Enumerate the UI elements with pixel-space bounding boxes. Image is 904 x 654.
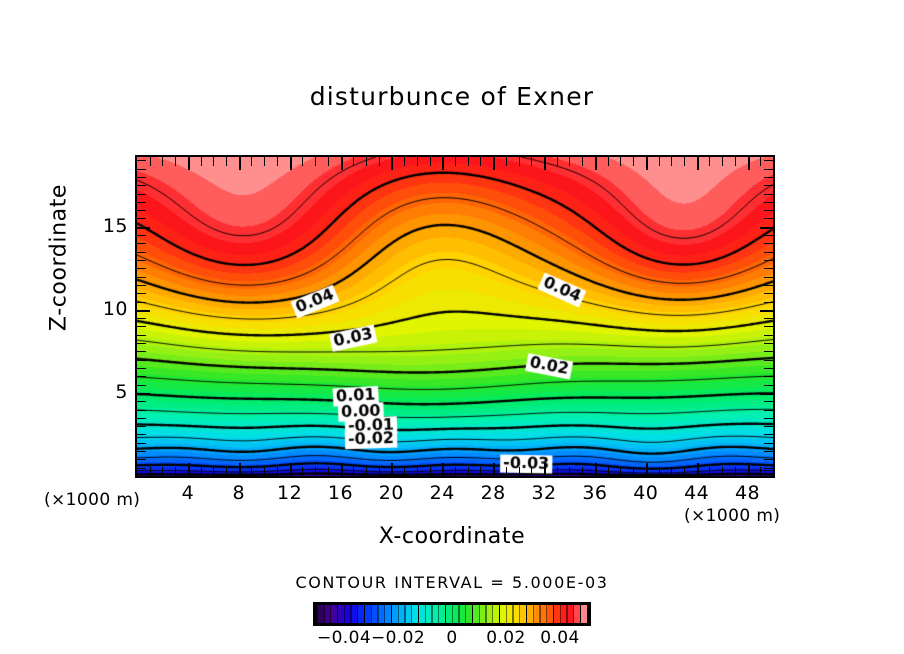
y-tick-right bbox=[760, 393, 773, 395]
x-tick-top bbox=[557, 157, 558, 166]
x-tick-bottom bbox=[582, 467, 583, 476]
y-tick-left bbox=[137, 434, 146, 435]
page-title: disturbunce of Exner bbox=[0, 82, 904, 111]
y-tick-left bbox=[137, 318, 146, 319]
x-tick-bottom bbox=[366, 467, 367, 476]
x-tick-bottom bbox=[557, 467, 558, 476]
x-tick-top bbox=[226, 157, 227, 166]
y-tick-right bbox=[764, 434, 773, 435]
x-tick-bottom bbox=[659, 467, 660, 476]
x-tick-top bbox=[748, 157, 750, 170]
y-tick-right bbox=[764, 385, 773, 386]
x-tick-bottom bbox=[417, 467, 418, 476]
y-tick-left bbox=[137, 194, 146, 195]
y-tick-left bbox=[137, 393, 150, 395]
y-tick-left bbox=[137, 459, 146, 460]
x-tick-top bbox=[582, 157, 583, 166]
x-tick-top bbox=[404, 157, 405, 166]
y-tick-right bbox=[764, 277, 773, 278]
y-tick-label: 10 bbox=[88, 298, 128, 320]
y-tick-right bbox=[764, 376, 773, 377]
y-tick-left bbox=[137, 177, 146, 178]
y-tick-left bbox=[137, 368, 146, 369]
x-tick-bottom bbox=[760, 467, 761, 476]
x-tick-top bbox=[646, 157, 648, 170]
x-tick-bottom bbox=[544, 463, 546, 476]
x-tick-top bbox=[430, 157, 431, 166]
x-tick-top bbox=[468, 157, 469, 166]
x-tick-bottom bbox=[671, 467, 672, 476]
y-tick-right bbox=[764, 451, 773, 452]
x-tick-bottom bbox=[595, 463, 597, 476]
y-tick-right bbox=[764, 202, 773, 203]
x-tick-bottom bbox=[251, 467, 252, 476]
y-tick-left bbox=[137, 268, 146, 269]
x-tick-bottom bbox=[391, 463, 393, 476]
x-tick-bottom bbox=[569, 467, 570, 476]
x-tick-bottom bbox=[201, 467, 202, 476]
y-tick-left bbox=[137, 202, 146, 203]
x-tick-top bbox=[506, 157, 507, 166]
colorbar-tick-label: 0.04 bbox=[525, 628, 595, 648]
x-tick-bottom bbox=[697, 463, 699, 476]
x-tick-top bbox=[201, 157, 202, 166]
x-tick-top bbox=[722, 157, 723, 166]
x-tick-top bbox=[417, 157, 418, 166]
colorbar bbox=[313, 602, 591, 626]
x-tick-top bbox=[277, 157, 278, 166]
y-tick-right bbox=[764, 194, 773, 195]
y-tick-left bbox=[137, 418, 146, 419]
y-tick-right bbox=[764, 335, 773, 336]
y-tick-right bbox=[764, 260, 773, 261]
y-tick-right bbox=[764, 243, 773, 244]
x-tick-top bbox=[659, 157, 660, 166]
y-tick-left bbox=[137, 277, 146, 278]
x-tick-bottom bbox=[430, 467, 431, 476]
y-tick-right bbox=[760, 310, 773, 312]
y-tick-right bbox=[764, 401, 773, 402]
x-tick-top bbox=[341, 157, 343, 170]
x-tick-bottom bbox=[709, 467, 710, 476]
x-tick-bottom bbox=[188, 463, 190, 476]
x-tick-top bbox=[735, 157, 736, 166]
y-tick-left bbox=[137, 401, 146, 402]
x-tick-top bbox=[379, 157, 380, 166]
y-tick-left bbox=[137, 235, 146, 236]
x-tick-bottom bbox=[213, 467, 214, 476]
x-tick-bottom bbox=[455, 467, 456, 476]
y-tick-left bbox=[137, 252, 146, 253]
x-tick-bottom bbox=[519, 467, 520, 476]
x-tick-top bbox=[315, 157, 316, 166]
y-tick-right bbox=[764, 293, 773, 294]
y-tick-left bbox=[137, 185, 146, 186]
y-tick-left bbox=[137, 451, 146, 452]
x-tick-top bbox=[633, 157, 634, 166]
y-tick-right bbox=[764, 351, 773, 352]
contour-plot-frame bbox=[135, 155, 775, 478]
x-tick-top bbox=[442, 157, 444, 170]
y-tick-left bbox=[137, 302, 146, 303]
y-tick-right bbox=[764, 210, 773, 211]
x-tick-bottom bbox=[277, 467, 278, 476]
y-tick-right bbox=[764, 368, 773, 369]
y-tick-left bbox=[137, 343, 146, 344]
x-tick-bottom bbox=[633, 467, 634, 476]
x-tick-bottom bbox=[531, 467, 532, 476]
y-tick-left bbox=[137, 160, 146, 161]
x-tick-top bbox=[175, 157, 176, 166]
y-tick-right bbox=[764, 459, 773, 460]
y-tick-left bbox=[137, 443, 146, 444]
x-tick-top bbox=[366, 157, 367, 166]
x-tick-bottom bbox=[239, 463, 241, 476]
y-tick-right bbox=[764, 285, 773, 286]
y-tick-right bbox=[764, 410, 773, 411]
x-tick-top bbox=[608, 157, 609, 166]
x-tick-bottom bbox=[442, 463, 444, 476]
y-tick-right bbox=[764, 426, 773, 427]
x-tick-bottom bbox=[608, 467, 609, 476]
y-axis-title: Z-coordinate bbox=[47, 163, 72, 353]
y-tick-left bbox=[137, 169, 146, 170]
contour-interval-caption: CONTOUR INTERVAL = 5.000E-03 bbox=[0, 573, 904, 592]
x-tick-bottom bbox=[493, 463, 495, 476]
y-tick-left bbox=[137, 227, 150, 229]
y-tick-left bbox=[137, 385, 146, 386]
y-tick-right bbox=[764, 185, 773, 186]
x-tick-bottom bbox=[735, 467, 736, 476]
x-tick-top bbox=[595, 157, 597, 170]
y-tick-left bbox=[137, 218, 146, 219]
x-tick-top bbox=[569, 157, 570, 166]
y-tick-right bbox=[764, 252, 773, 253]
x-tick-top bbox=[328, 157, 329, 166]
x-tick-top bbox=[302, 157, 303, 166]
y-tick-left bbox=[137, 376, 146, 377]
y-tick-right bbox=[764, 218, 773, 219]
y-tick-right bbox=[764, 302, 773, 303]
x-tick-top bbox=[353, 157, 354, 166]
x-tick-bottom bbox=[684, 467, 685, 476]
y-tick-label: 5 bbox=[88, 381, 128, 403]
contour-plot-canvas bbox=[137, 157, 773, 476]
y-tick-right bbox=[764, 268, 773, 269]
y-tick-left bbox=[137, 360, 146, 361]
x-tick-top bbox=[671, 157, 672, 166]
x-tick-bottom bbox=[353, 467, 354, 476]
y-tick-right bbox=[764, 177, 773, 178]
x-tick-top bbox=[684, 157, 685, 166]
x-tick-top bbox=[391, 157, 393, 170]
x-tick-bottom bbox=[150, 467, 151, 476]
y-tick-right bbox=[764, 418, 773, 419]
x-tick-top bbox=[493, 157, 495, 170]
x-tick-bottom bbox=[315, 467, 316, 476]
x-tick-top bbox=[290, 157, 292, 170]
x-tick-top bbox=[188, 157, 190, 170]
y-tick-right bbox=[764, 468, 773, 469]
colorbar-gradient bbox=[317, 605, 587, 623]
x-tick-bottom bbox=[506, 467, 507, 476]
y-tick-left bbox=[137, 410, 146, 411]
y-tick-right bbox=[764, 443, 773, 444]
y-tick-left bbox=[137, 243, 146, 244]
y-tick-right bbox=[760, 227, 773, 229]
y-tick-left bbox=[137, 260, 146, 261]
x-tick-top bbox=[150, 157, 151, 166]
x-tick-bottom bbox=[646, 463, 648, 476]
x-tick-label: 48 bbox=[718, 482, 778, 504]
y-tick-label: 15 bbox=[88, 215, 128, 237]
x-tick-bottom bbox=[620, 467, 621, 476]
x-tick-top bbox=[531, 157, 532, 166]
y-tick-right bbox=[764, 169, 773, 170]
y-tick-left bbox=[137, 210, 146, 211]
y-tick-left bbox=[137, 326, 146, 327]
y-tick-left bbox=[137, 351, 146, 352]
x-tick-bottom bbox=[264, 467, 265, 476]
x-tick-bottom bbox=[226, 467, 227, 476]
x-tick-top bbox=[544, 157, 546, 170]
y-tick-left bbox=[137, 310, 150, 312]
x-tick-top bbox=[213, 157, 214, 166]
y-tick-left bbox=[137, 426, 146, 427]
y-tick-left bbox=[137, 468, 146, 469]
x-tick-top bbox=[239, 157, 241, 170]
x-tick-top bbox=[709, 157, 710, 166]
x-tick-top bbox=[264, 157, 265, 166]
y-tick-left bbox=[137, 285, 146, 286]
x-tick-top bbox=[455, 157, 456, 166]
x-unit-label-left: (×1000 m) bbox=[44, 490, 140, 510]
x-tick-bottom bbox=[290, 463, 292, 476]
x-tick-top bbox=[519, 157, 520, 166]
x-tick-bottom bbox=[341, 463, 343, 476]
y-tick-right bbox=[764, 326, 773, 327]
x-tick-top bbox=[697, 157, 699, 170]
y-tick-left bbox=[137, 293, 146, 294]
y-tick-left bbox=[137, 335, 146, 336]
y-tick-right bbox=[764, 318, 773, 319]
x-tick-bottom bbox=[379, 467, 380, 476]
x-unit-label-right: (×1000 m) bbox=[684, 506, 780, 526]
y-tick-right bbox=[764, 343, 773, 344]
x-tick-top bbox=[480, 157, 481, 166]
x-tick-bottom bbox=[748, 463, 750, 476]
x-tick-bottom bbox=[722, 467, 723, 476]
y-tick-right bbox=[764, 160, 773, 161]
x-tick-top bbox=[162, 157, 163, 166]
x-tick-bottom bbox=[404, 467, 405, 476]
x-tick-bottom bbox=[302, 467, 303, 476]
x-tick-bottom bbox=[328, 467, 329, 476]
x-tick-bottom bbox=[162, 467, 163, 476]
y-tick-right bbox=[764, 360, 773, 361]
y-tick-right bbox=[764, 235, 773, 236]
x-tick-bottom bbox=[468, 467, 469, 476]
x-tick-top bbox=[251, 157, 252, 166]
x-axis-title: X-coordinate bbox=[0, 524, 904, 549]
x-tick-bottom bbox=[175, 467, 176, 476]
x-tick-bottom bbox=[480, 467, 481, 476]
x-tick-top bbox=[760, 157, 761, 166]
x-tick-top bbox=[620, 157, 621, 166]
